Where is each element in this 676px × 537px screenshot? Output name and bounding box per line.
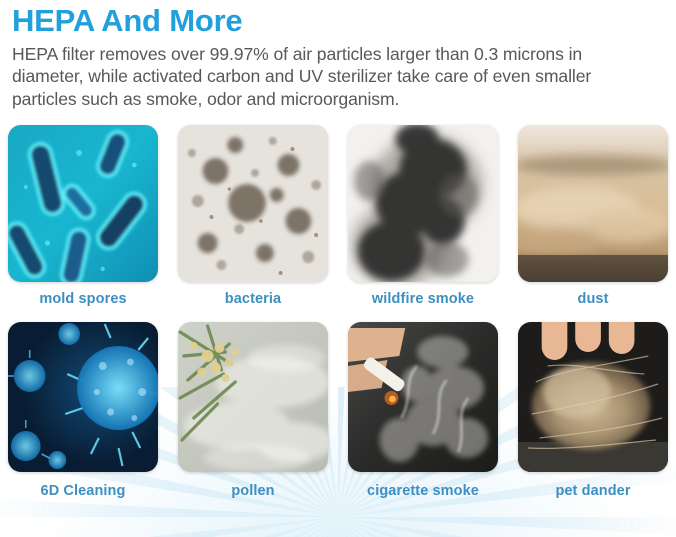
gallery-item-caption: cigarette smoke xyxy=(367,483,479,499)
gallery-item-pollen: pollen xyxy=(178,322,328,499)
gallery-item-pet-dander: pet dander xyxy=(518,322,668,499)
particle-gallery-row-2: 6D Cleaning xyxy=(8,322,668,499)
gallery-item-caption: pet dander xyxy=(555,483,630,499)
virus-particles-photo xyxy=(8,322,158,472)
cigarette-smoke-photo xyxy=(348,322,498,472)
gallery-item-caption: 6D Cleaning xyxy=(41,483,126,499)
page-title: HEPA And More xyxy=(8,0,668,38)
gallery-item-dust: dust xyxy=(518,125,668,307)
gallery-item-cigarette-smoke: cigarette smoke xyxy=(348,322,498,499)
mold-spores-photo xyxy=(8,125,158,282)
hepa-info-panel: HEPA And More HEPA filter removes over 9… xyxy=(0,0,676,499)
particle-gallery-row-1: mold spores xyxy=(8,125,668,307)
gallery-item-mold-spores: mold spores xyxy=(8,125,158,307)
gallery-item-caption: dust xyxy=(577,291,608,307)
gallery-item-6d-cleaning: 6D Cleaning xyxy=(8,322,158,499)
pet-dander-photo xyxy=(518,322,668,472)
gallery-item-wildfire-smoke: wildfire smoke xyxy=(348,125,498,307)
wildfire-smoke-photo xyxy=(348,125,498,282)
gallery-item-caption: bacteria xyxy=(225,291,281,307)
pollen-photo xyxy=(178,322,328,472)
gallery-item-caption: mold spores xyxy=(39,291,126,307)
bacteria-photo xyxy=(178,125,328,282)
dust-photo xyxy=(518,125,668,282)
gallery-item-caption: pollen xyxy=(231,483,274,499)
page-description: HEPA filter removes over 99.97% of air p… xyxy=(12,43,612,110)
gallery-item-bacteria: bacteria xyxy=(178,125,328,307)
gallery-item-caption: wildfire smoke xyxy=(372,291,474,307)
